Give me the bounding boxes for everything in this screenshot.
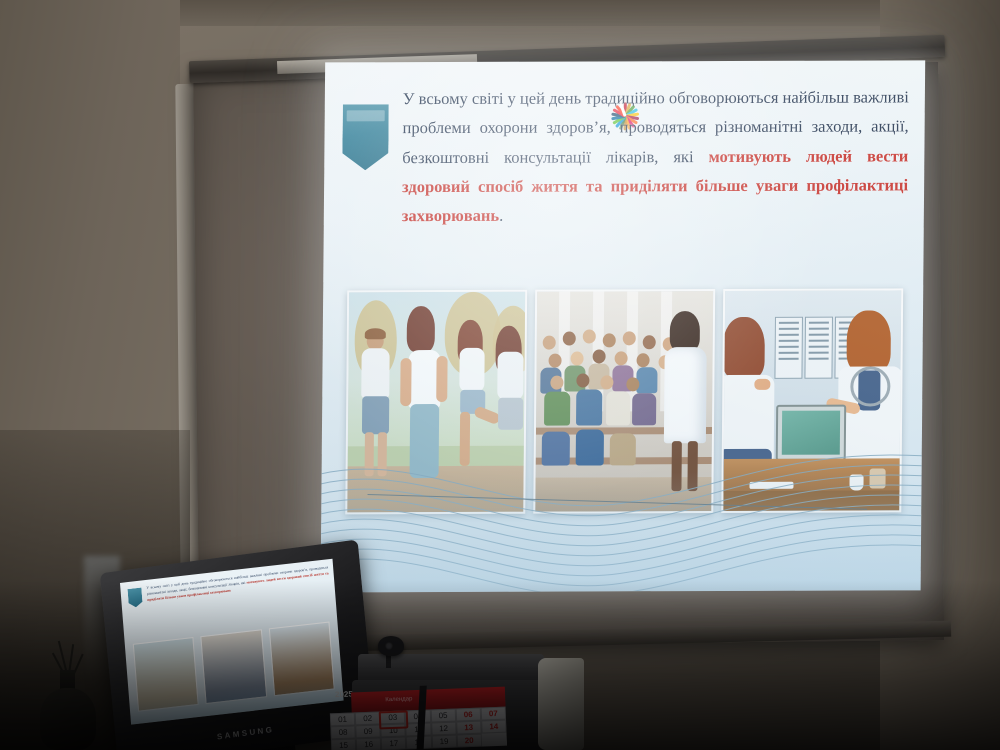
projected-slide: У всьому світі у цей день традиційно обг… — [321, 60, 926, 592]
room-floor-shadow — [0, 580, 1000, 750]
presentation-room-photo: У всьому світі у цей день традиційно обг… — [0, 0, 1000, 750]
slide-text-tail: . — [499, 206, 503, 225]
logo-caption-bar — [347, 110, 385, 121]
slide-body-text: У всьому світі у цей день традиційно обг… — [402, 82, 909, 231]
slide-wave-decoration — [321, 440, 922, 592]
un-sdg-wheel-shield-logo — [342, 104, 389, 170]
